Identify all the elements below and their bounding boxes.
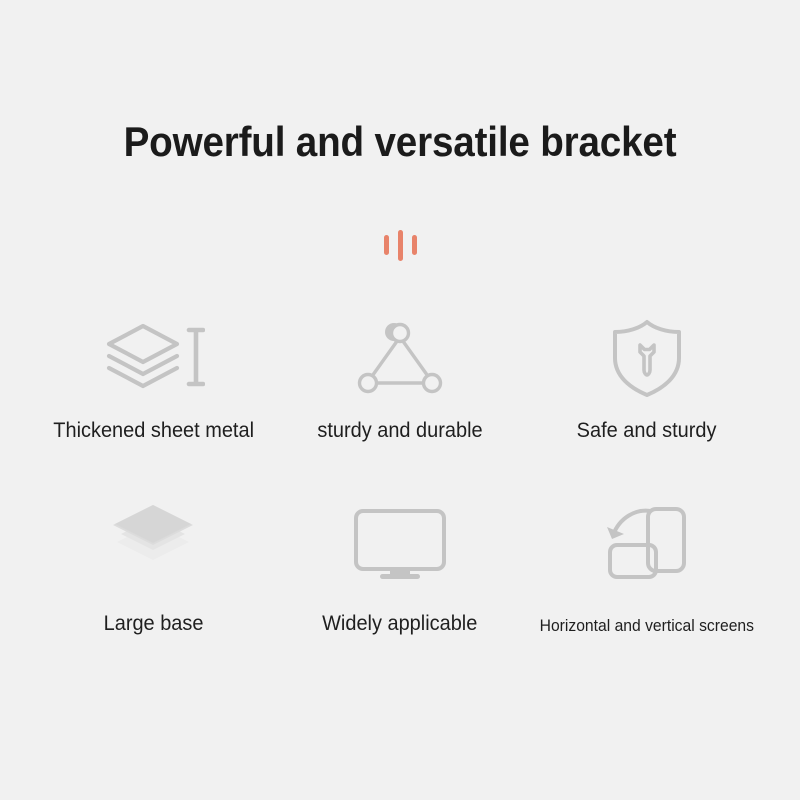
feature-item-thickened-sheet-metal: Thickened sheet metal: [30, 315, 277, 443]
divider-bar-center: [398, 230, 403, 261]
shield-wrench-icon: [610, 315, 684, 401]
feature-row-1: Thickened sheet metal: [30, 315, 770, 443]
three-bar-divider: [0, 228, 800, 262]
feature-label: Widely applicable: [322, 612, 477, 636]
triangle-truss-nodes-icon: [357, 315, 443, 401]
divider-bar-left: [384, 235, 389, 255]
divider-bar-right: [412, 235, 417, 255]
feature-item-horizontal-and-vertical-screens: Horizontal and vertical screens: [523, 498, 770, 636]
page-title: Powerful and versatile bracket: [32, 118, 768, 166]
feature-grid: Thickened sheet metal: [30, 315, 770, 636]
screen-rotation-icon: [604, 498, 690, 590]
feature-item-widely-applicable: Widely applicable: [277, 498, 524, 636]
feature-item-large-base: Large base: [30, 498, 277, 636]
feature-label: Thickened sheet metal: [53, 419, 254, 443]
feature-item-sturdy-and-durable: sturdy and durable: [277, 315, 524, 443]
stacked-sheets-thickness-icon: [101, 315, 205, 401]
feature-item-safe-and-sturdy: Safe and sturdy: [523, 315, 770, 443]
product-feature-banner: Powerful and versatile bracket: [0, 0, 800, 800]
feature-row-2: Large base Widely applicable: [30, 498, 770, 636]
feature-label: sturdy and durable: [317, 419, 482, 443]
stacked-base-plates-icon: [103, 498, 203, 590]
feature-label: Safe and sturdy: [577, 419, 717, 443]
feature-label: Large base: [103, 612, 203, 636]
monitor-icon: [352, 498, 448, 590]
feature-label: Horizontal and vertical screens: [540, 617, 754, 636]
